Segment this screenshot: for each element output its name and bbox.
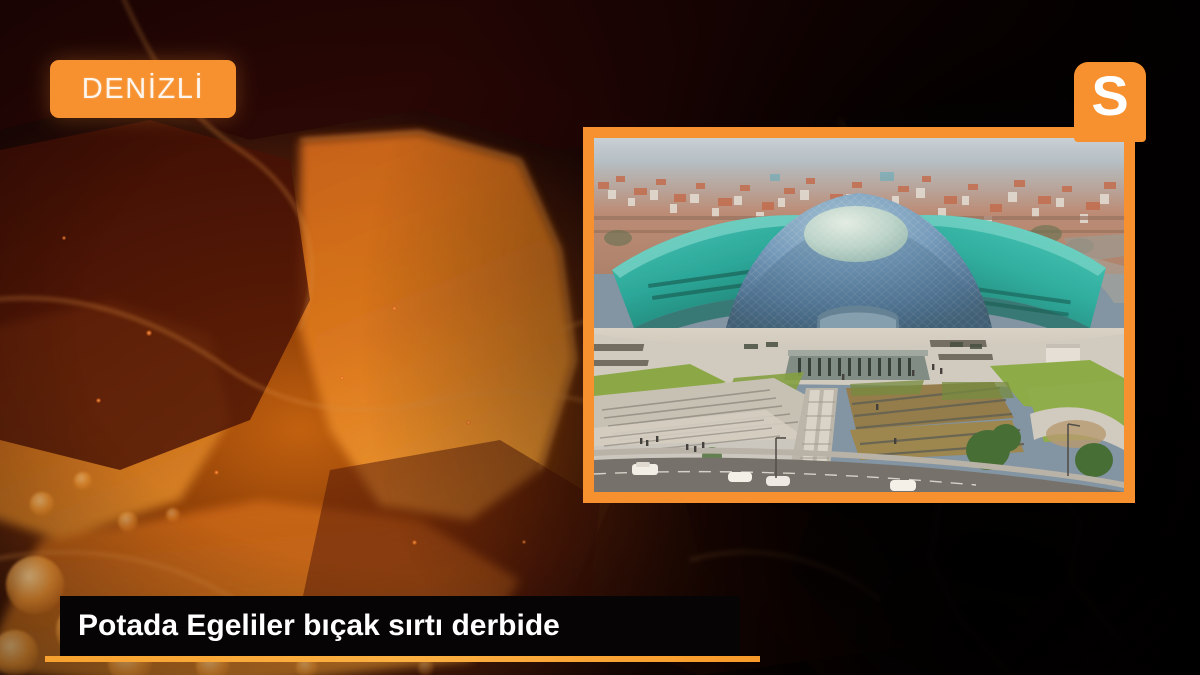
arena-aerial-photo[interactable]: [594, 138, 1124, 492]
photo-frame: [583, 127, 1135, 503]
brand-logo[interactable]: S: [1074, 62, 1146, 142]
headline-bar: Potada Egeliler bıçak sırtı derbide: [60, 596, 740, 656]
brand-logo-letter-icon: S: [1091, 68, 1128, 124]
arena-photo-illustration: [594, 138, 1124, 492]
location-badge-label: DENİZLİ: [82, 75, 204, 104]
news-card: DENİZLİ S: [0, 0, 1200, 675]
headline-underline: [45, 656, 760, 662]
location-badge[interactable]: DENİZLİ: [50, 60, 236, 118]
headline-text: Potada Egeliler bıçak sırtı derbide: [60, 611, 560, 641]
